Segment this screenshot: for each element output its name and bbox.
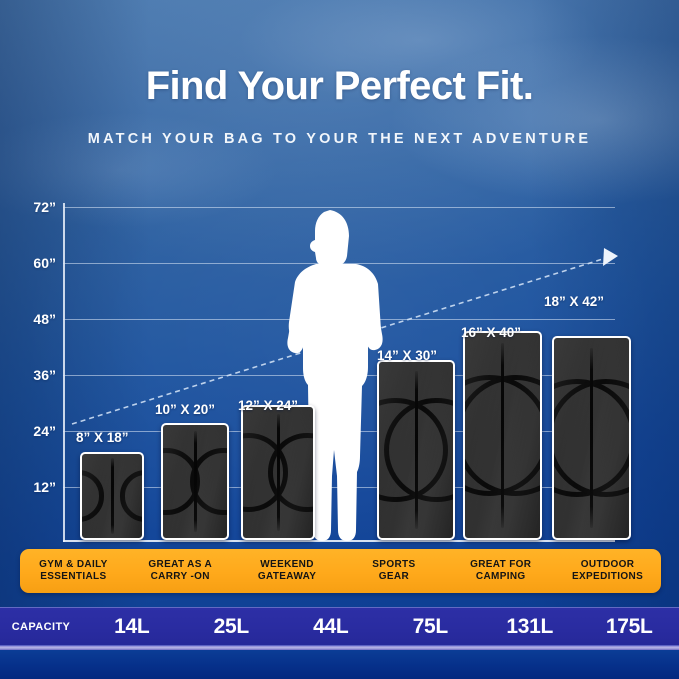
capacity-value: 25L (182, 615, 282, 639)
bag-highlight (163, 425, 227, 538)
capacity-value: 175L (580, 615, 679, 639)
capacity-band: CAPACITY 14L25L44L75L131L175L (0, 607, 679, 646)
capacity-value: 14L (82, 615, 182, 639)
infographic-canvas: Find Your Perfect Fit. MATCH YOUR BAG TO… (0, 0, 679, 679)
bag-size-label: 12” X 24” (238, 398, 298, 413)
bag-highlight (379, 362, 453, 538)
capacity-value: 44L (281, 615, 381, 639)
footer-bar (0, 650, 679, 679)
use-case-cell[interactable]: WEEKENDGATEAWAY (234, 549, 341, 593)
bag-bar[interactable] (463, 331, 542, 540)
bag-size-label: 16” X 40” (461, 325, 521, 340)
use-case-cell[interactable]: SPORTSGEAR (340, 549, 447, 593)
bag-highlight (243, 407, 313, 538)
bag-highlight (465, 333, 540, 538)
bag-bar[interactable] (377, 360, 455, 540)
bag-size-label: 14” X 30” (377, 348, 437, 363)
capacity-value: 75L (381, 615, 481, 639)
capacity-values-group: 14L25L44L75L131L175L (82, 608, 679, 645)
bag-bar[interactable] (241, 405, 315, 540)
capacity-row-label: CAPACITY (0, 621, 82, 633)
use-case-cell[interactable]: GYM & DAILYESSENTIALS (20, 549, 127, 593)
bag-highlight (554, 338, 629, 538)
bag-size-label: 10” X 20” (155, 402, 215, 417)
bag-size-label: 18” X 42” (544, 294, 604, 309)
use-case-band: GYM & DAILYESSENTIALS GREAT AS ACARRY -O… (20, 549, 661, 593)
bag-size-label: 8” X 18” (76, 430, 129, 445)
capacity-value: 131L (480, 615, 580, 639)
use-case-cell[interactable]: OUTDOOREXPEDITIONS (554, 549, 661, 593)
bag-bar[interactable] (161, 423, 229, 540)
bag-bar[interactable] (80, 452, 144, 540)
use-case-cell[interactable]: GREAT FORCAMPING (447, 549, 554, 593)
bag-bar[interactable] (552, 336, 631, 540)
bag-highlight (82, 454, 142, 538)
use-case-cell[interactable]: GREAT AS ACARRY -ON (127, 549, 234, 593)
